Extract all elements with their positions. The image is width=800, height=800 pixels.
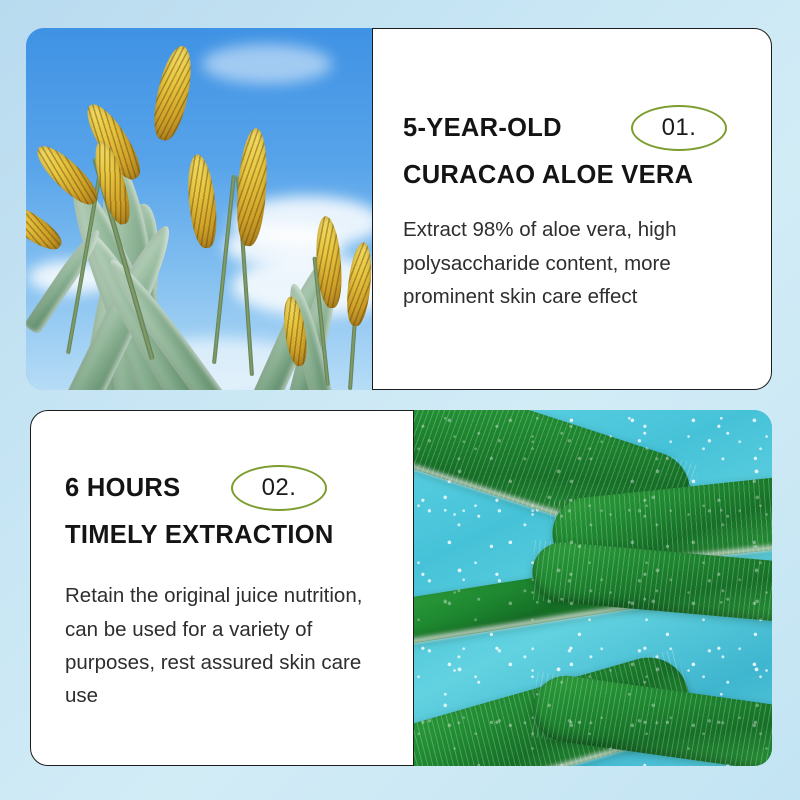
step-badge-02: 02. xyxy=(231,465,327,511)
product-feature-board: 01. 5-YEAR-OLD CURACAO ALOE VERA Extract… xyxy=(0,0,800,800)
step-badge-01-label: 01. xyxy=(662,114,697,142)
feature-row-2: 02. 6 HOURS TIMELY EXTRACTION Retain the… xyxy=(30,410,772,766)
aloe-leaf-macro-photo xyxy=(414,410,772,766)
cloud-shape xyxy=(202,44,332,84)
feature-row-1: 01. 5-YEAR-OLD CURACAO ALOE VERA Extract… xyxy=(26,28,772,390)
feature-1-headline-line2: CURACAO ALOE VERA xyxy=(403,152,739,199)
feature-1-body: Extract 98% of aloe vera, high polysacch… xyxy=(403,213,739,313)
aloe-vera-field-photo xyxy=(26,28,372,390)
feature-card-1: 01. 5-YEAR-OLD CURACAO ALOE VERA Extract… xyxy=(372,28,772,390)
water-droplets-overlay xyxy=(414,410,772,766)
step-badge-02-label: 02. xyxy=(262,474,297,502)
feature-2-body: Retain the original juice nutrition, can… xyxy=(65,579,383,712)
feature-card-2: 02. 6 HOURS TIMELY EXTRACTION Retain the… xyxy=(30,410,414,766)
feature-2-headline-line2: TIMELY EXTRACTION xyxy=(65,512,413,559)
step-badge-01: 01. xyxy=(631,105,727,151)
